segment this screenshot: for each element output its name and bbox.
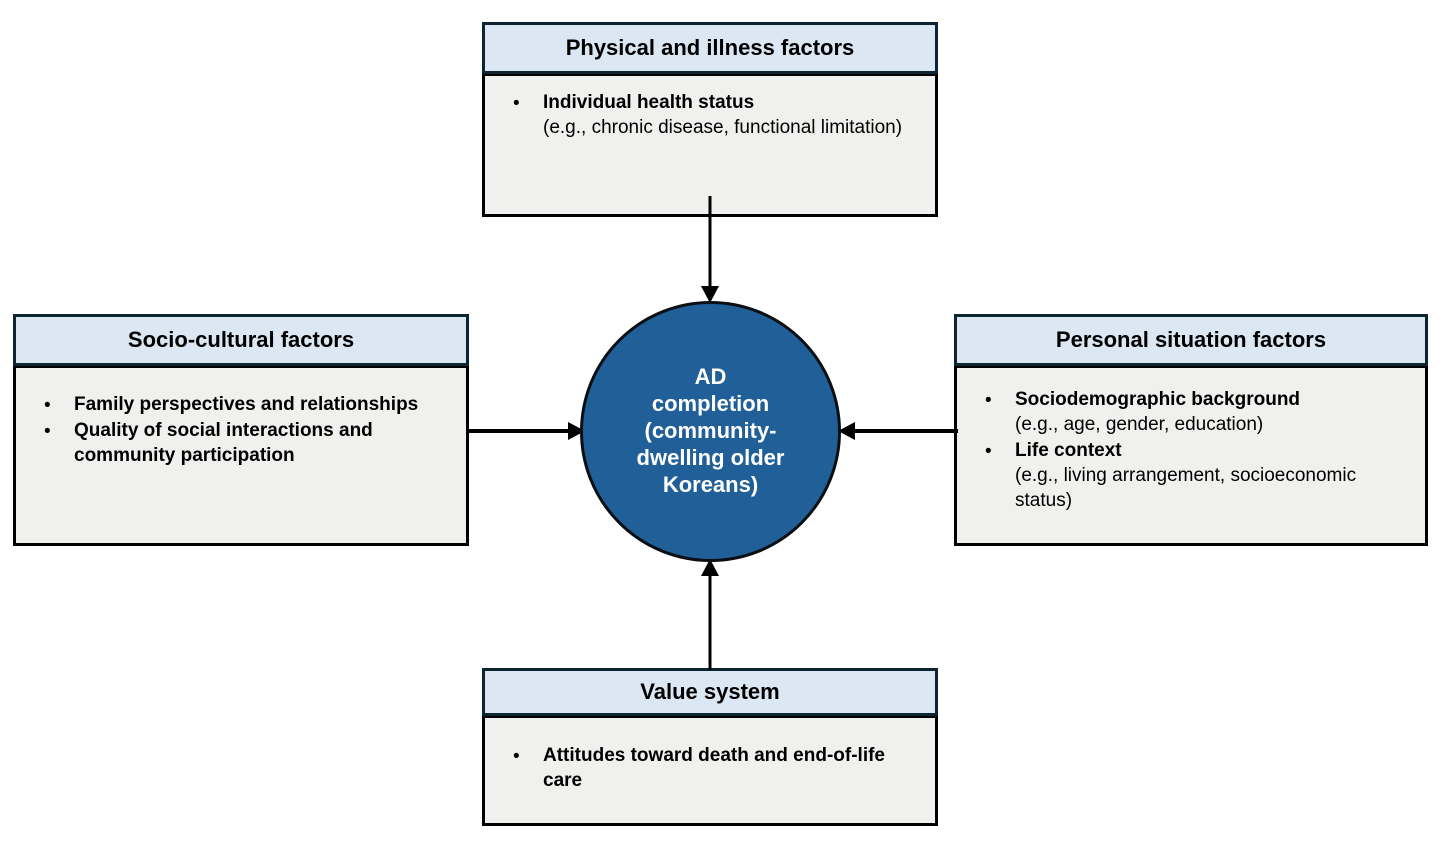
arrow-right-to-center xyxy=(834,421,958,441)
factor-box-title: Physical and illness factors xyxy=(566,36,855,60)
bullet-list: • Family perspectives and relationships … xyxy=(26,392,456,468)
bullet-term: Attitudes toward death and end-of-life c… xyxy=(543,743,925,793)
factor-box-body-socio-cultural-factors: • Family perspectives and relationships … xyxy=(13,366,469,546)
factor-box-socio-cultural-factors[interactable]: Socio-cultural factors • Family perspect… xyxy=(13,314,469,546)
factor-box-personal-situation-factors[interactable]: Personal situation factors • Sociodemogr… xyxy=(954,314,1428,546)
center-node-line-4: dwelling older xyxy=(637,445,785,472)
arrow-shaft xyxy=(709,574,712,670)
center-node-line-2: completion xyxy=(637,391,785,418)
arrow-shaft xyxy=(709,196,712,291)
center-node-line-3: (community- xyxy=(637,418,785,445)
bullet-list: • Attitudes toward death and end-of-life… xyxy=(495,743,925,793)
list-item: • Attitudes toward death and end-of-life… xyxy=(495,743,925,793)
bullet-term: Individual health status xyxy=(543,90,925,115)
center-node-ad-completion[interactable]: AD completion (community- dwelling older… xyxy=(580,301,841,562)
center-node-line-1: AD xyxy=(637,364,785,391)
center-node-line-5: Koreans) xyxy=(637,472,785,499)
bullet-dot-icon: • xyxy=(44,419,51,444)
bullet-example: (e.g., age, gender, education) xyxy=(1015,412,1415,437)
bullet-term: Quality of social interactions and commu… xyxy=(74,418,456,468)
list-item: • Family perspectives and relationships xyxy=(26,392,456,417)
arrow-shaft xyxy=(469,429,572,433)
bullet-dot-icon: • xyxy=(985,439,992,464)
bullet-example: (e.g., living arrangement, socioeconomic… xyxy=(1015,463,1415,513)
factor-box-body-value-system: • Attitudes toward death and end-of-life… xyxy=(482,716,938,826)
bullet-dot-icon: • xyxy=(985,388,992,413)
list-item: • Sociodemographic background (e.g., age… xyxy=(967,387,1415,437)
list-item: • Life context (e.g., living arrangement… xyxy=(967,438,1415,513)
list-item: • Individual health status (e.g., chroni… xyxy=(495,90,925,140)
factor-box-title: Personal situation factors xyxy=(1056,328,1326,352)
bullet-example: (e.g., chronic disease, functional limit… xyxy=(543,115,925,140)
factor-box-header-socio-cultural-factors: Socio-cultural factors xyxy=(13,314,469,366)
arrow-bottom-to-center xyxy=(700,556,720,670)
factor-box-title: Socio-cultural factors xyxy=(128,328,354,352)
factor-box-title: Value system xyxy=(640,680,779,704)
bullet-dot-icon: • xyxy=(44,393,51,418)
arrow-shaft xyxy=(855,429,958,433)
diagram-canvas: Physical and illness factors • Individua… xyxy=(0,0,1455,842)
factor-box-header-value-system: Value system xyxy=(482,668,938,716)
list-item: • Quality of social interactions and com… xyxy=(26,418,456,468)
bullet-term: Sociodemographic background xyxy=(1015,387,1415,412)
bullet-dot-icon: • xyxy=(513,744,520,769)
center-node-label: AD completion (community- dwelling older… xyxy=(609,364,813,498)
bullet-dot-icon: • xyxy=(513,91,520,116)
factor-box-physical-and-illness-factors[interactable]: Physical and illness factors • Individua… xyxy=(482,22,938,217)
bullet-term: Life context xyxy=(1015,438,1415,463)
arrow-top-to-center xyxy=(700,196,720,306)
bullet-list: • Sociodemographic background (e.g., age… xyxy=(967,387,1415,513)
factor-box-body-personal-situation-factors: • Sociodemographic background (e.g., age… xyxy=(954,366,1428,546)
arrow-left-to-center xyxy=(469,421,589,441)
bullet-list: • Individual health status (e.g., chroni… xyxy=(495,90,925,140)
factor-box-value-system[interactable]: Value system • Attitudes toward death an… xyxy=(482,668,938,826)
factor-box-header-personal-situation-factors: Personal situation factors xyxy=(954,314,1428,366)
factor-box-header-physical-and-illness-factors: Physical and illness factors xyxy=(482,22,938,74)
bullet-term: Family perspectives and relationships xyxy=(74,392,456,417)
